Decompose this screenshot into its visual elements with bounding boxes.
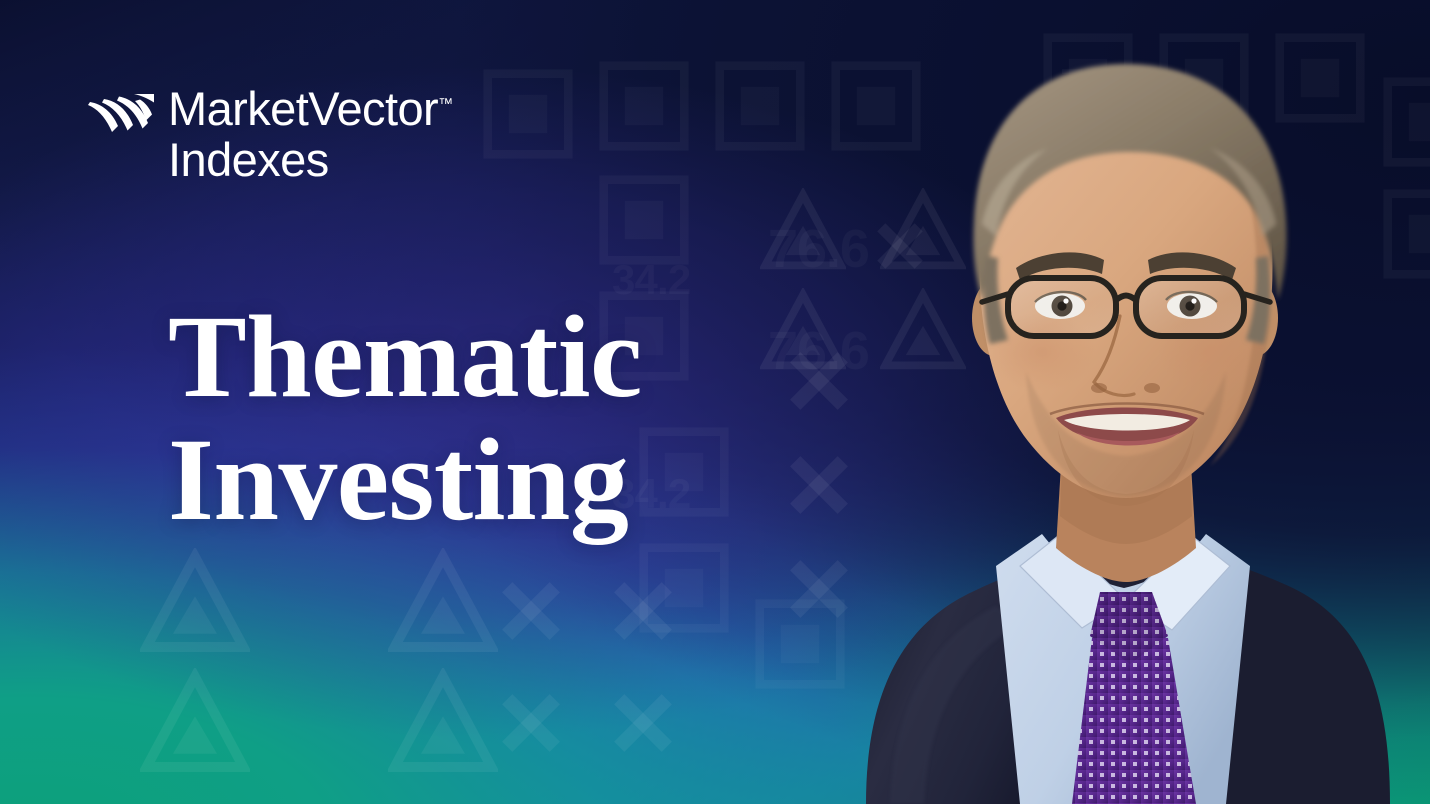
triangle-outline-icon	[388, 668, 498, 778]
brand-logo: MarketVector™ Indexes	[88, 86, 568, 184]
headline-line-2: Investing	[168, 419, 642, 542]
x-mark-icon	[610, 578, 676, 644]
square-outline-icon	[1380, 186, 1430, 282]
x-mark-icon	[498, 690, 564, 756]
triangle-outline-icon	[388, 548, 498, 658]
triangle-outline-icon	[140, 548, 250, 658]
marketvector-wing-mark	[88, 92, 154, 144]
square-outline-icon	[1156, 30, 1252, 126]
square-outline-icon	[1380, 74, 1430, 170]
title-card: 76.676.634.234.276.6	[0, 0, 1430, 804]
headline: Thematic Investing	[168, 296, 642, 541]
square-outline-icon	[1272, 30, 1368, 126]
background-number: 76.6	[768, 320, 869, 382]
triangle-outline-icon	[880, 288, 966, 374]
square-outline-icon	[596, 58, 692, 154]
x-mark-icon	[786, 452, 852, 518]
x-mark-icon	[786, 556, 852, 622]
x-mark-icon	[610, 690, 676, 756]
square-outline-icon	[712, 58, 808, 154]
brand-name-line1: MarketVector	[168, 82, 438, 135]
brand-name-line2: Indexes	[168, 135, 453, 185]
background-number: 76.6	[1060, 60, 1142, 110]
x-mark-icon	[498, 578, 564, 644]
x-mark-icon	[874, 220, 926, 272]
background-number: 76.6	[768, 218, 869, 280]
triangle-outline-icon	[140, 668, 250, 778]
triangle-outline-icon	[1006, 140, 1092, 226]
square-outline-icon	[596, 172, 692, 268]
square-outline-icon	[828, 58, 924, 154]
trademark-symbol: ™	[438, 95, 453, 112]
headline-line-1: Thematic	[168, 296, 642, 419]
